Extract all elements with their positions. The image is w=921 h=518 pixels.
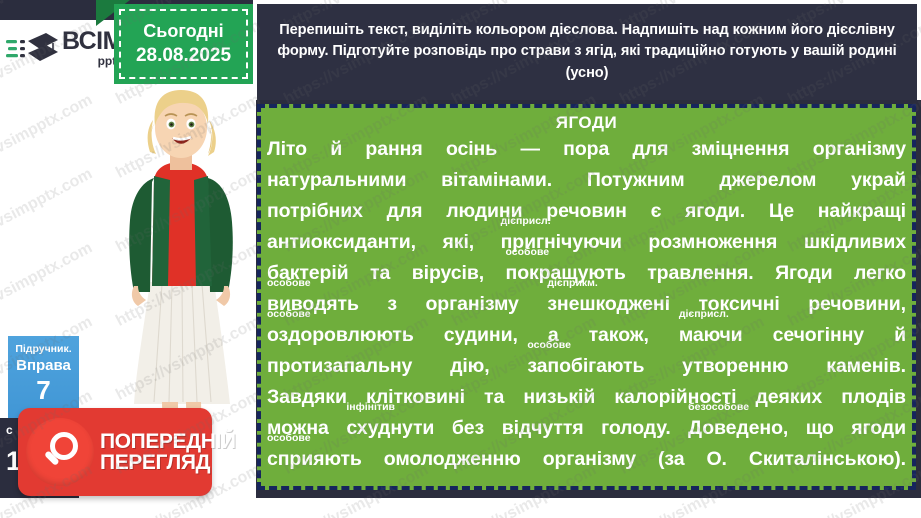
reading-word: осінь (446, 134, 497, 165)
reading-word: ягоди (851, 413, 906, 444)
reading-word: вірусів, (412, 258, 484, 289)
reading-word: з (387, 289, 397, 320)
reading-word: та (370, 258, 390, 289)
reading-word: джерелом (719, 165, 816, 196)
annotated-word: маючидієприсл. (679, 320, 743, 351)
reading-word: низькій (523, 382, 595, 413)
reading-word: — (520, 134, 539, 165)
reading-word: Це (769, 196, 794, 227)
annotated-word: сприяютьособове (267, 444, 362, 475)
reading-word: О. (706, 444, 726, 475)
reading-word: зміцнення (692, 134, 790, 165)
reading-line: антиоксиданти,які,пригнічуючидієприсл.ро… (267, 227, 906, 258)
reading-text-inner: ЯГОДИ Літойранняосінь—порадлязміцненняор… (261, 108, 912, 486)
reading-word: Скиталінською). (749, 444, 906, 475)
grammar-annotation: безособове (688, 402, 749, 413)
slide-canvas: ВСІМ pptx Сьогодні 28.08.2025 Перепишіть… (0, 0, 921, 518)
reading-word: пора (563, 134, 609, 165)
reading-word: відчуття (502, 413, 584, 444)
reading-word: голоду. (601, 413, 671, 444)
reading-word: організму (543, 444, 636, 475)
reading-word: украй (851, 165, 906, 196)
reading-word: протизапальну (267, 351, 412, 382)
reading-line: виводятьособовезорганізмузнешкодженідієп… (267, 289, 906, 320)
annotated-word: Доведено,безособове (688, 413, 788, 444)
grammar-annotation: особове (506, 247, 550, 258)
reading-word: Ягоди (775, 258, 832, 289)
reading-line: можнасхуднутиінфінітивбезвідчуттяголоду.… (267, 413, 906, 444)
reading-word: й (894, 320, 906, 351)
reading-word: організму (813, 134, 906, 165)
reading-line: протизапальнудію,запобігаютьособовеутвор… (267, 351, 906, 382)
grammar-annotation: дієприсл. (501, 216, 551, 227)
reading-word: які, (443, 227, 475, 258)
page-background-bottom (0, 498, 921, 518)
magnifier-icon (37, 429, 83, 475)
grammar-annotation: дієприсл. (679, 309, 729, 320)
reading-word: сечогінну (773, 320, 864, 351)
today-date-badge: Сьогодні 28.08.2025 (114, 4, 253, 84)
exercise-number: 7 (36, 375, 50, 406)
reading-line: потрібнихдлялюдиниречовинєягоди.Ценайкра… (267, 196, 906, 227)
preview-watermark-stamp: ПОПЕРЕДНІЙ ПЕРЕГЛЯД (18, 408, 212, 496)
annotated-word: знешкодженідієприкм. (547, 289, 670, 320)
reading-word: найкращі (818, 196, 906, 227)
grammar-annotation: особове (267, 433, 311, 444)
reading-word: дію, (450, 351, 489, 382)
reading-line: натуральнимивітамінами.Потужнимджерелому… (267, 165, 906, 196)
reading-word: що (806, 413, 834, 444)
reading-line: сприяютьособовеомолодженнюорганізму(заО.… (267, 444, 906, 475)
reading-word: легко (854, 258, 906, 289)
preview-stamp-line2: ПЕРЕГЛЯД (100, 452, 236, 473)
reading-word: речовин (546, 196, 627, 227)
reading-word: й (330, 134, 342, 165)
reading-lines: Літойранняосінь—порадлязміцненняорганізм… (267, 134, 906, 475)
reading-word: плодів (841, 382, 906, 413)
magnifier-badge (26, 418, 94, 486)
reading-word: судини, (444, 320, 518, 351)
reading-word: деяких (756, 382, 823, 413)
task-instruction-text: Перепишіть текст, виділіть кольором дієс… (267, 20, 907, 83)
exercise-source-label: Підручник. (15, 343, 71, 355)
grammar-annotation: особове (267, 278, 311, 289)
today-date-value: 28.08.2025 (136, 45, 231, 67)
reading-word: та (484, 382, 504, 413)
grammar-annotation: інфінітив (346, 402, 395, 413)
reading-word: для (387, 196, 423, 227)
reading-word: антиоксиданти, (267, 227, 416, 258)
reading-word: натуральними (267, 165, 406, 196)
reading-line: оздоровлюютьособовесудини,атакож,маючиді… (267, 320, 906, 351)
reading-word: для (633, 134, 669, 165)
grammar-annotation: дієприкм. (547, 278, 598, 289)
brand-logo[interactable]: ВСІМ pptx (6, 22, 116, 74)
reading-word: вітамінами. (441, 165, 552, 196)
grammar-annotation: особове (527, 340, 571, 351)
reading-word: також, (589, 320, 649, 351)
reading-word: є (651, 196, 662, 227)
reading-text-panel: ЯГОДИ Літойранняосінь—порадлязміцненняор… (257, 104, 916, 490)
reading-word: Завдяки (267, 382, 347, 413)
reading-word: організму (425, 289, 518, 320)
reading-word: (за (658, 444, 684, 475)
reading-word: Літо (267, 134, 307, 165)
preview-stamp-line1: ПОПЕРЕДНІЙ (100, 431, 236, 452)
student-character-illustration (110, 86, 252, 426)
exercise-kind-label: Вправа (16, 357, 71, 374)
reading-word: каменів. (826, 351, 906, 382)
annotated-word: оздоровлюютьособове (267, 320, 414, 351)
reading-word: потрібних (267, 196, 363, 227)
task-header-band: Перепишіть текст, виділіть кольором дієс… (257, 4, 917, 100)
today-label: Сьогодні (143, 21, 223, 42)
reading-word: утворенню (682, 351, 788, 382)
annotated-word: запобігаютьособове (527, 351, 644, 382)
graduation-cap-icon (6, 27, 58, 69)
reading-word: омолодженню (384, 444, 521, 475)
annotated-word: схуднутиінфінітив (346, 413, 434, 444)
reading-word: рання (365, 134, 422, 165)
reading-word: шкідливих (804, 227, 906, 258)
reading-line: Літойранняосінь—порадлязміцненняорганізм… (267, 134, 906, 165)
reading-word: травлення. (647, 258, 753, 289)
reading-word: речовини, (808, 289, 906, 320)
grammar-annotation: особове (267, 309, 311, 320)
preview-stamp-text: ПОПЕРЕДНІЙ ПЕРЕГЛЯД (100, 431, 236, 474)
reading-word: ягоди. (685, 196, 745, 227)
task-header-frame: Перепишіть текст, виділіть кольором дієс… (253, 0, 921, 100)
reading-title: ЯГОДИ (267, 113, 906, 133)
reading-word: без (452, 413, 484, 444)
reading-word: Потужним (587, 165, 685, 196)
reading-word: розмноження (648, 227, 777, 258)
